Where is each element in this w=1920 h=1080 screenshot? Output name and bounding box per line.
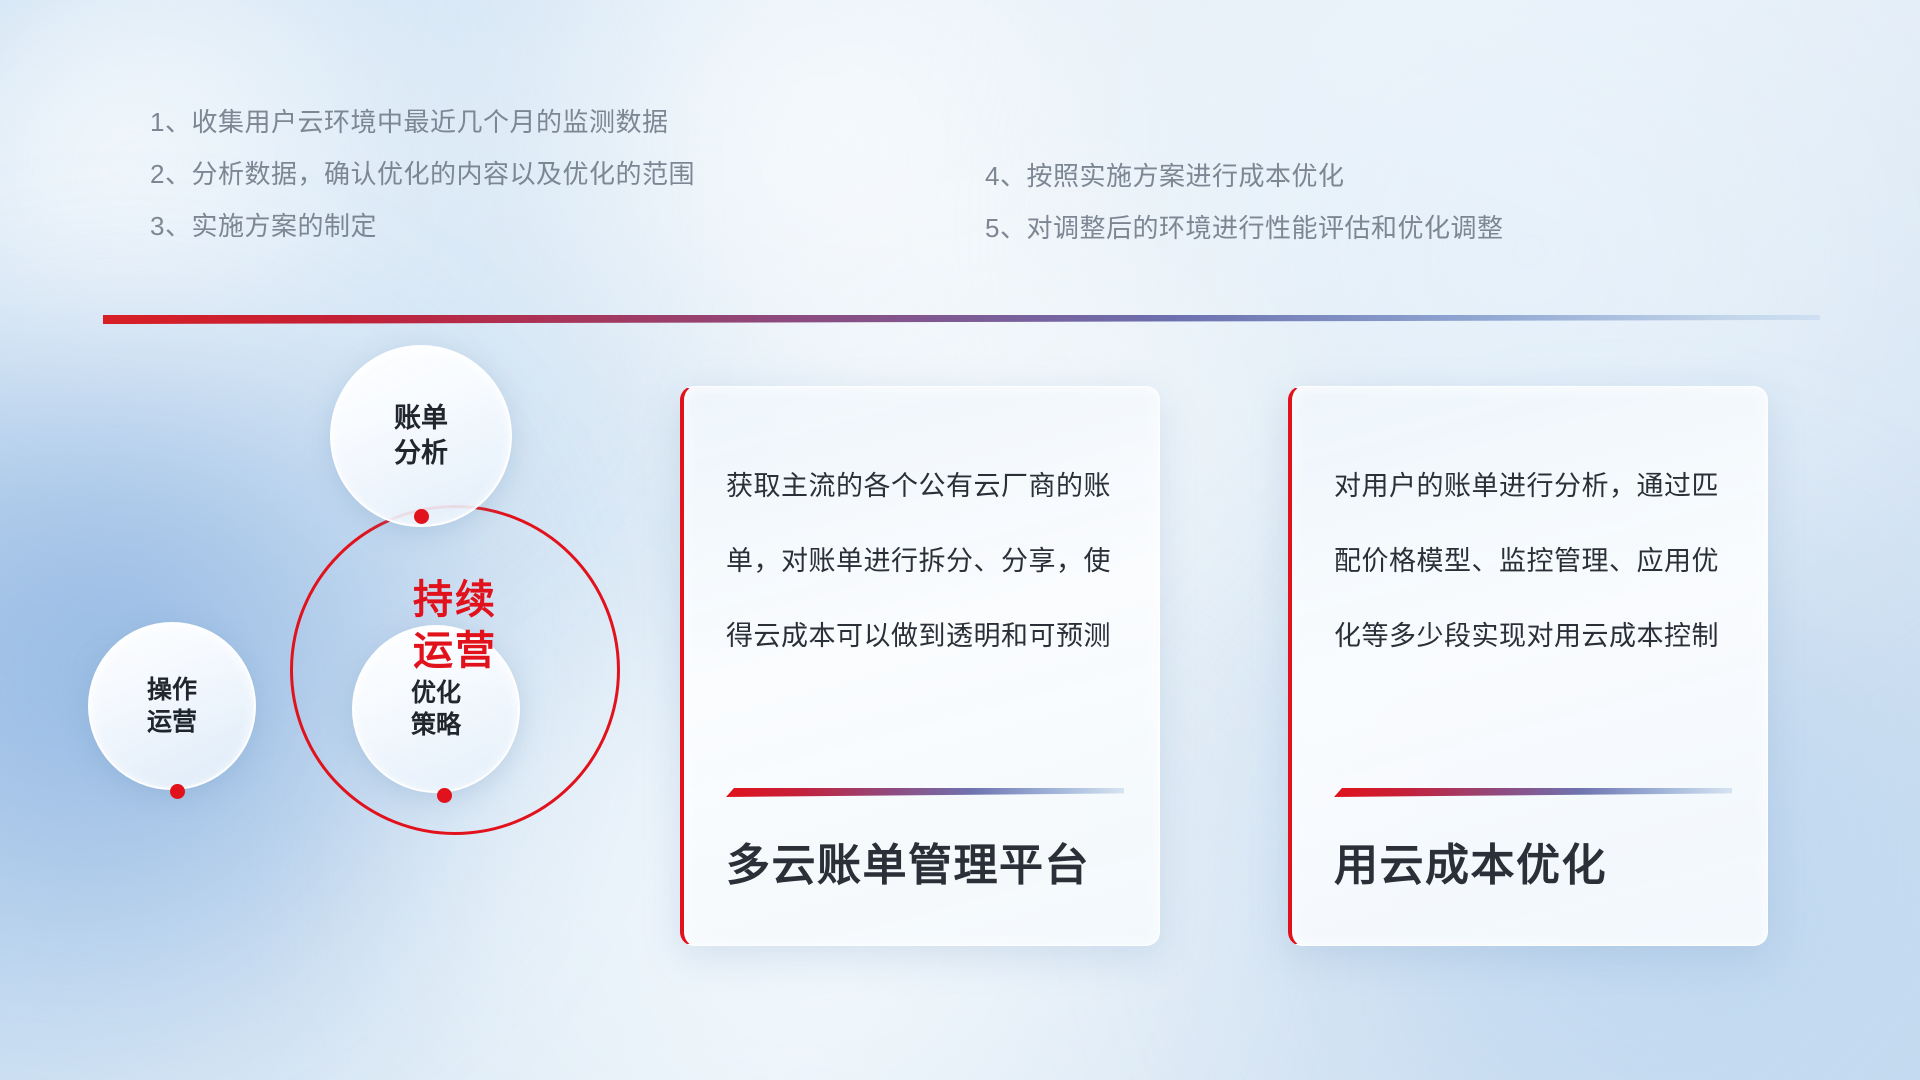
venn-bubble-operations[interactable]: 操作 运营 [88, 622, 256, 790]
venn-bubble-label-line1: 账单 [394, 401, 448, 436]
venn-node-dot-top [414, 509, 429, 524]
card-divider [726, 788, 1124, 797]
venn-center-label-line1: 持续 [290, 575, 620, 626]
card-cloud-cost-optimization[interactable]: 对用户的账单进行分析，通过匹配价格模型、监控管理、应用优化等多少段实现对用云成本… [1288, 386, 1768, 946]
card-title: 用云成本优化 [1334, 829, 1607, 893]
venn-bubble-label-line2: 运营 [147, 706, 197, 738]
card-body-text: 对用户的账单进行分析，通过匹配价格模型、监控管理、应用优化等多少段实现对用云成本… [1334, 449, 1727, 674]
venn-bubble-label-line1: 优化 [411, 677, 461, 709]
card-divider [1334, 788, 1732, 797]
step-item-2: 2、分析数据，确认优化的内容以及优化的范围 [150, 148, 695, 200]
steps-right-column: 4、按照实施方案进行成本优化 5、对调整后的环境进行性能评估和优化调整 [985, 150, 1503, 254]
venn-center-label: 持续 运营 [290, 575, 620, 677]
venn-node-dot-left [170, 784, 185, 799]
step-item-1: 1、收集用户云环境中最近几个月的监测数据 [150, 96, 695, 148]
step-item-5: 5、对调整后的环境进行性能评估和优化调整 [985, 202, 1503, 254]
venn-bubble-label-line2: 策略 [411, 709, 461, 741]
venn-bubble-bill-analysis[interactable]: 账单 分析 [330, 345, 512, 527]
venn-center-label-line2: 运营 [290, 626, 620, 677]
venn-node-dot-right [437, 788, 452, 803]
venn-bubble-label-line2: 分析 [394, 436, 448, 471]
step-item-4: 4、按照实施方案进行成本优化 [985, 150, 1503, 202]
card-title: 多云账单管理平台 [726, 829, 1090, 893]
step-item-3: 3、实施方案的制定 [150, 200, 695, 252]
steps-left-column: 1、收集用户云环境中最近几个月的监测数据 2、分析数据，确认优化的内容以及优化的… [150, 96, 695, 252]
venn-bubble-label-line1: 操作 [147, 674, 197, 706]
card-multicloud-billing-platform[interactable]: 获取主流的各个公有云厂商的账单，对账单进行拆分、分享，使得云成本可以做到透明和可… [680, 386, 1160, 946]
card-body-text: 获取主流的各个公有云厂商的账单，对账单进行拆分、分享，使得云成本可以做到透明和可… [726, 449, 1119, 674]
venn-diagram: 账单 分析 操作 运营 优化 策略 持续 运营 [100, 360, 620, 920]
